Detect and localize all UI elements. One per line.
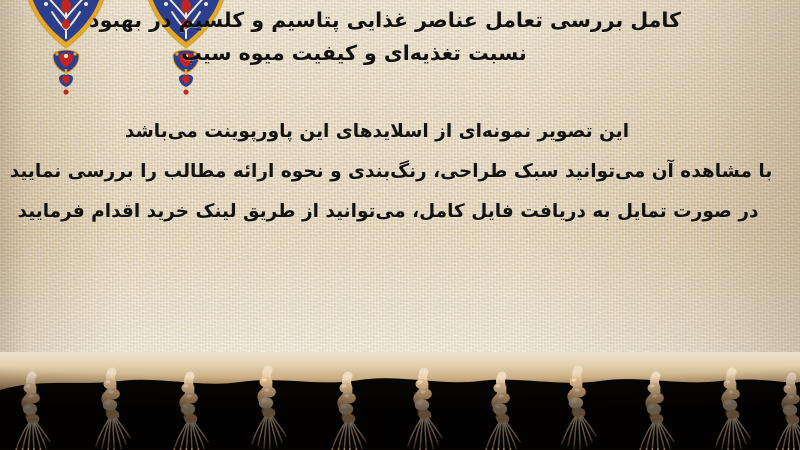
carpet-fringe-tassels bbox=[0, 352, 800, 450]
carpet-weave-texture bbox=[0, 0, 800, 372]
presentation-slide: کامل بررسی تعامل عناصر غذایی پتاسیم و کل… bbox=[0, 0, 800, 450]
fringe-svg bbox=[0, 352, 800, 450]
fringe-base-shadow bbox=[0, 378, 800, 450]
carpet-background bbox=[0, 0, 800, 372]
